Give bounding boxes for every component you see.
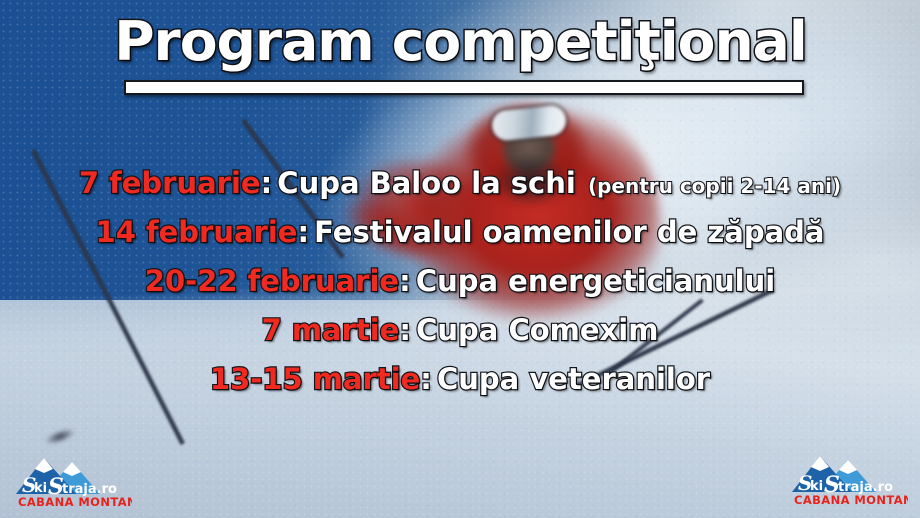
page-title: Program competiţional: [114, 14, 806, 69]
ski-program-poster: Program competiţional 7 februarie: Cupa …: [0, 0, 920, 518]
schedule-row: 20-22 februarie: Cupa energeticianului: [0, 264, 920, 298]
schedule-row-event: Cupa veteranilor: [437, 362, 710, 396]
schedule-row-separator: :: [399, 264, 411, 298]
competition-schedule-list: 7 februarie: Cupa Baloo la schi (pentru …: [0, 166, 920, 411]
schedule-row-date: 13-15 martie: [210, 362, 420, 396]
poster-title-area: Program competiţional: [0, 14, 920, 69]
svg-text:CABANA MONTANA: CABANA MONTANA: [794, 493, 908, 507]
brand-logo-right[interactable]: S ki S traja.ro CABANA MONTANA SkiStraja…: [790, 450, 908, 508]
schedule-row-date: 14 februarie: [96, 215, 298, 249]
schedule-row: 13-15 martie: Cupa veteranilor: [0, 362, 920, 396]
schedule-row-separator: :: [261, 166, 273, 200]
brand-logo-left[interactable]: S ki S traja.ro CABANA MONTANA SkiStraja…: [14, 452, 132, 510]
schedule-row-date: 20-22 februarie: [145, 264, 399, 298]
schedule-row: 7 martie: Cupa Comexim: [0, 313, 920, 347]
schedule-row-event: Cupa energeticianului: [416, 264, 775, 298]
svg-text:CABANA MONTANA: CABANA MONTANA: [18, 495, 132, 509]
mountain-icon: S ki S traja.ro CABANA MONTANA: [14, 452, 132, 510]
schedule-row-date: 7 martie: [262, 313, 400, 347]
mountain-icon: S ki S traja.ro CABANA MONTANA: [790, 450, 908, 508]
schedule-row-separator: :: [399, 313, 411, 347]
svg-text:ki: ki: [810, 479, 823, 494]
schedule-row-event: Festivalul oamenilor de zăpadă: [314, 215, 824, 249]
svg-text:ki: ki: [34, 481, 47, 496]
schedule-row-date: 7 februarie: [79, 166, 261, 200]
schedule-row-separator: :: [297, 215, 309, 249]
schedule-row-event: Cupa Comexim: [416, 313, 658, 347]
schedule-row-note: (pentru copii 2-14 ani): [588, 174, 841, 198]
schedule-row: 14 februarie: Festivalul oamenilor de ză…: [0, 215, 920, 249]
schedule-row-event: Cupa Baloo la schi: [277, 166, 576, 200]
schedule-row-separator: :: [420, 362, 432, 396]
schedule-row: 7 februarie: Cupa Baloo la schi (pentru …: [0, 166, 920, 200]
title-underline-rule: [124, 80, 804, 95]
